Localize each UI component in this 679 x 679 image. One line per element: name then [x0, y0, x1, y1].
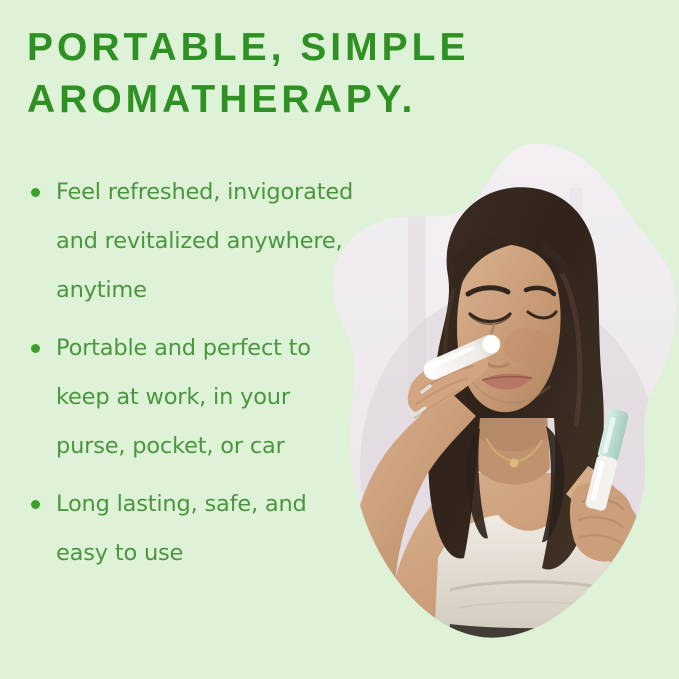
- bullet-icon: [31, 344, 40, 353]
- headline-line-2: AROMATHERAPY.: [27, 74, 497, 126]
- product-photo: [330, 138, 679, 643]
- bullet-icon: [31, 188, 40, 197]
- list-item-label: Portable and perfect to keep at work, in…: [56, 335, 311, 459]
- list-item-label: Feel refreshed, invigorated and revitali…: [56, 179, 353, 303]
- list-item: Long lasting, safe, and easy to use: [24, 480, 354, 578]
- infographic-canvas: PORTABLE, SIMPLE AROMATHERAPY. Feel refr…: [0, 0, 679, 679]
- list-item: Portable and perfect to keep at work, in…: [24, 324, 354, 471]
- benefits-list: Feel refreshed, invigorated and revitali…: [24, 168, 354, 587]
- bullet-icon: [31, 500, 40, 509]
- list-item: Feel refreshed, invigorated and revitali…: [24, 168, 354, 315]
- page-title: PORTABLE, SIMPLE AROMATHERAPY.: [27, 22, 497, 126]
- photo-illustration: [330, 138, 679, 643]
- list-item-label: Long lasting, safe, and easy to use: [56, 491, 307, 566]
- headline-line-1: PORTABLE, SIMPLE: [27, 22, 497, 74]
